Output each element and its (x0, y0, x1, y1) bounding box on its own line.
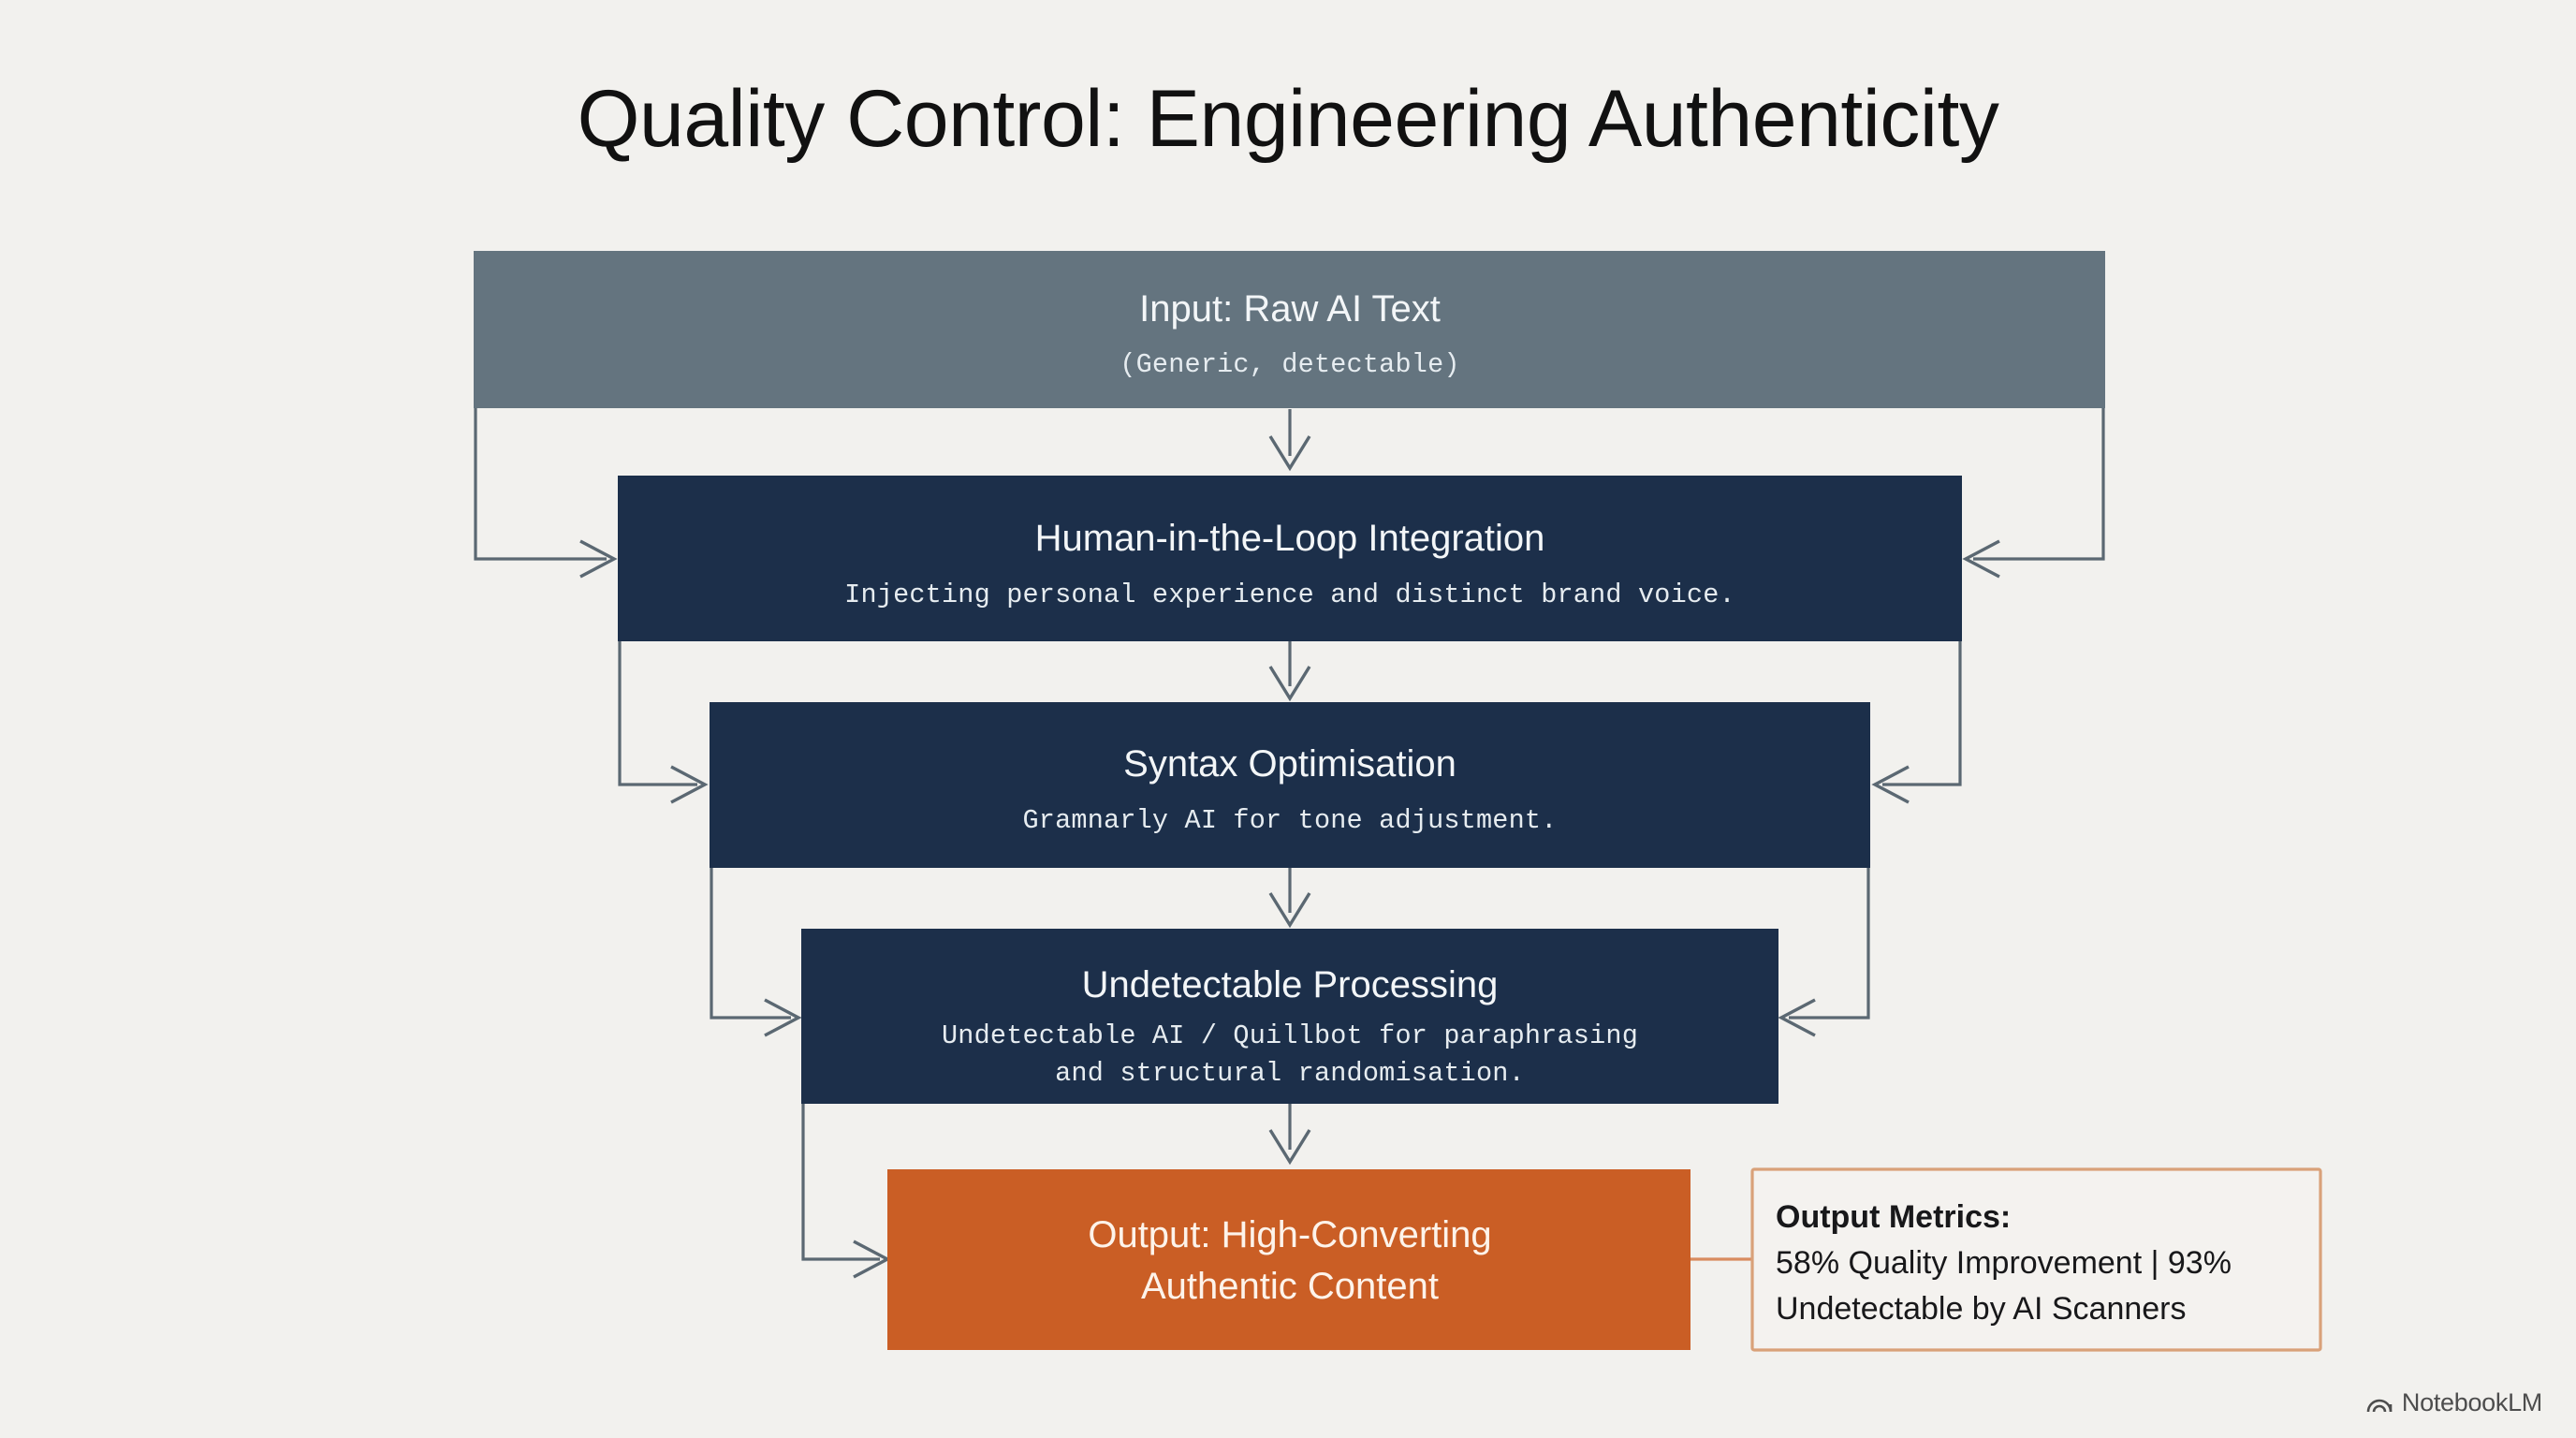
node-input[interactable]: Input: Raw AI Text (Generic, detectable) (474, 251, 2105, 408)
node-human-in-the-loop[interactable]: Human-in-the-Loop Integration Injecting … (618, 476, 1962, 641)
flowchart-diagram: Input: Raw AI Text (Generic, detectable)… (0, 0, 2576, 1438)
connector-input-to-human-right (1966, 407, 2103, 577)
connector-syntax-to-undetectable-right (1781, 866, 1868, 1035)
node-output-title-line-1: Output: High-Converting (1088, 1214, 1491, 1255)
metrics-line-1: 58% Quality Improvement | 93% (1776, 1245, 2232, 1281)
connector-syntax-to-undetectable-left (711, 866, 798, 1035)
connector-undetectable-to-output-center (1270, 1104, 1310, 1162)
node-syntax-subtitle: Gramnarly AI for tone adjustment. (1023, 805, 1558, 836)
node-input-box (474, 251, 2105, 408)
output-metrics-panel[interactable]: Output Metrics: 58% Quality Improvement … (1752, 1169, 2320, 1350)
node-syntax-title: Syntax Optimisation (1123, 743, 1456, 785)
connector-human-to-syntax-right (1875, 639, 1960, 802)
metrics-heading: Output Metrics: (1776, 1199, 2011, 1235)
node-undetectable-subtitle-line-2: and structural randomisation. (1055, 1058, 1525, 1089)
connector-syntax-to-undetectable-center (1270, 868, 1310, 925)
notebooklm-arc-icon (2365, 1392, 2393, 1415)
node-output-box (887, 1169, 1690, 1350)
node-undetectable-subtitle-line-1: Undetectable AI / Quillbot for paraphras… (942, 1020, 1638, 1051)
node-human-subtitle: Injecting personal experience and distin… (844, 580, 1735, 610)
node-undetectable-processing[interactable]: Undetectable Processing Undetectable AI … (801, 929, 1778, 1104)
node-input-subtitle: (Generic, detectable) (1120, 349, 1459, 380)
notebooklm-watermark-label: NotebookLM (2402, 1388, 2542, 1417)
connector-human-to-syntax-center (1270, 641, 1310, 698)
node-input-title: Input: Raw AI Text (1139, 288, 1441, 330)
slide-canvas: Quality Control: Engineering Authenticit… (0, 0, 2576, 1438)
connector-input-to-human-left (476, 407, 614, 577)
node-output[interactable]: Output: High-Converting Authentic Conten… (887, 1169, 1690, 1350)
connector-input-to-human-center (1270, 409, 1310, 468)
metrics-line-2: Undetectable by AI Scanners (1776, 1291, 2187, 1327)
node-syntax-box (710, 702, 1870, 868)
notebooklm-watermark: NotebookLM (2365, 1388, 2542, 1417)
node-human-title: Human-in-the-Loop Integration (1035, 518, 1545, 559)
node-output-title-line-2: Authentic Content (1141, 1266, 1439, 1307)
connector-human-to-syntax-left (620, 639, 705, 802)
node-undetectable-title: Undetectable Processing (1082, 964, 1499, 1005)
node-syntax-optimisation[interactable]: Syntax Optimisation Gramnarly AI for ton… (710, 702, 1870, 868)
connector-undetectable-to-output-left (803, 1102, 887, 1277)
